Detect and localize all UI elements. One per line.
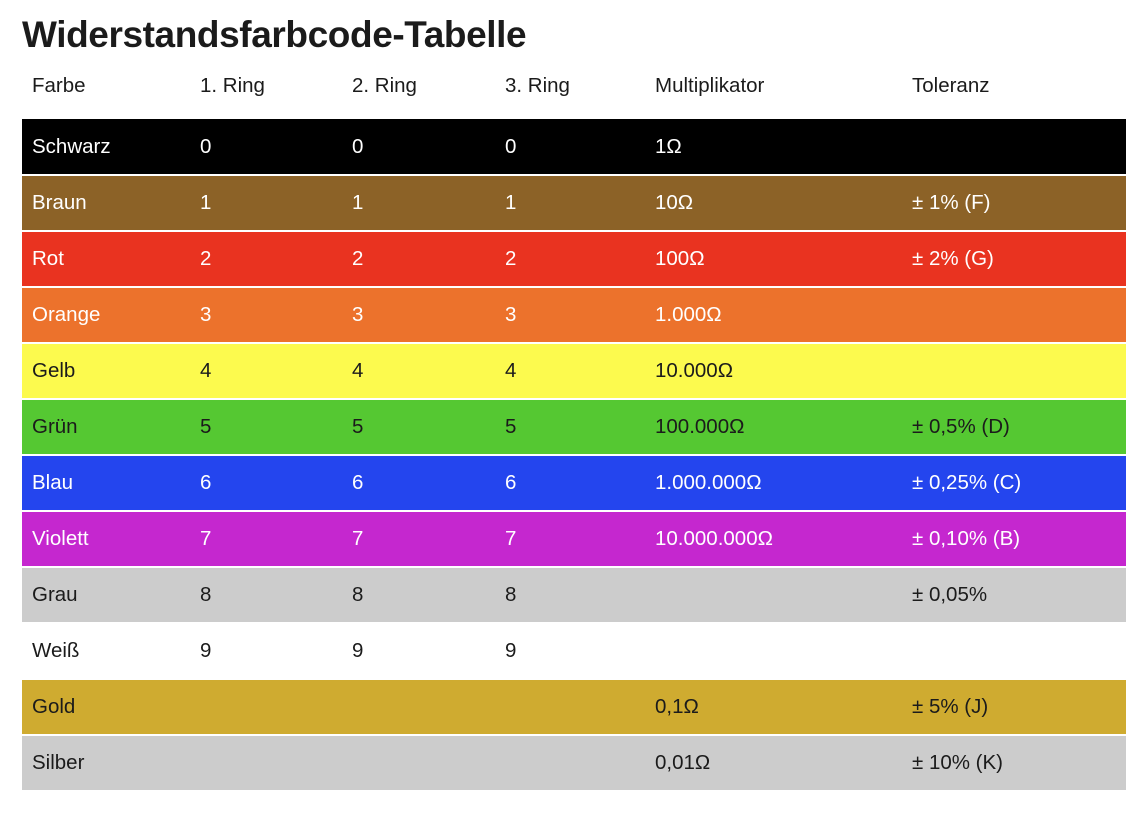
cell-farbe: Violett xyxy=(22,511,190,567)
cell-ring1 xyxy=(190,735,342,791)
cell-toleranz: ± 0,10% (B) xyxy=(902,511,1126,567)
cell-ring2: 4 xyxy=(342,343,495,399)
cell-ring1: 2 xyxy=(190,231,342,287)
table-header-row: Farbe1. Ring2. Ring3. RingMultiplikatorT… xyxy=(22,74,1126,119)
cell-ring2: 1 xyxy=(342,175,495,231)
table-body: Schwarz0001ΩBraun11110Ω± 1% (F)Rot222100… xyxy=(22,119,1126,791)
cell-ring1: 0 xyxy=(190,119,342,175)
cell-multiplikator: 10.000.000Ω xyxy=(645,511,902,567)
cell-toleranz xyxy=(902,623,1126,679)
column-header-multiplikator: Multiplikator xyxy=(645,74,902,119)
cell-ring1 xyxy=(190,679,342,735)
cell-ring2: 8 xyxy=(342,567,495,623)
table-row: Blau6661.000.000Ω± 0,25% (C) xyxy=(22,455,1126,511)
cell-toleranz: ± 0,05% xyxy=(902,567,1126,623)
cell-ring3: 1 xyxy=(495,175,645,231)
cell-farbe: Blau xyxy=(22,455,190,511)
cell-toleranz: ± 10% (K) xyxy=(902,735,1126,791)
table-row: Silber0,01Ω± 10% (K) xyxy=(22,735,1126,791)
column-header-ring1: 1. Ring xyxy=(190,74,342,119)
cell-toleranz xyxy=(902,119,1126,175)
resistor-color-code-page: Widerstandsfarbcode-Tabelle Farbe1. Ring… xyxy=(0,0,1148,820)
cell-toleranz xyxy=(902,287,1126,343)
cell-ring1: 3 xyxy=(190,287,342,343)
cell-ring3: 8 xyxy=(495,567,645,623)
cell-ring3: 6 xyxy=(495,455,645,511)
cell-farbe: Gold xyxy=(22,679,190,735)
table-row: Grau888± 0,05% xyxy=(22,567,1126,623)
cell-multiplikator: 1.000.000Ω xyxy=(645,455,902,511)
cell-ring2: 5 xyxy=(342,399,495,455)
cell-toleranz: ± 0,25% (C) xyxy=(902,455,1126,511)
cell-ring2: 0 xyxy=(342,119,495,175)
cell-ring1: 9 xyxy=(190,623,342,679)
cell-ring3: 5 xyxy=(495,399,645,455)
cell-ring2: 6 xyxy=(342,455,495,511)
cell-ring3: 0 xyxy=(495,119,645,175)
table-row: Gelb44410.000Ω xyxy=(22,343,1126,399)
cell-ring2: 9 xyxy=(342,623,495,679)
cell-ring3 xyxy=(495,679,645,735)
cell-ring1: 4 xyxy=(190,343,342,399)
cell-multiplikator: 0,1Ω xyxy=(645,679,902,735)
cell-farbe: Orange xyxy=(22,287,190,343)
table-header: Farbe1. Ring2. Ring3. RingMultiplikatorT… xyxy=(22,74,1126,119)
cell-toleranz: ± 1% (F) xyxy=(902,175,1126,231)
cell-toleranz: ± 5% (J) xyxy=(902,679,1126,735)
cell-farbe: Weiß xyxy=(22,623,190,679)
cell-multiplikator: 10Ω xyxy=(645,175,902,231)
table-row: Gold0,1Ω± 5% (J) xyxy=(22,679,1126,735)
table-row: Braun11110Ω± 1% (F) xyxy=(22,175,1126,231)
cell-toleranz: ± 0,5% (D) xyxy=(902,399,1126,455)
cell-ring3: 4 xyxy=(495,343,645,399)
cell-multiplikator: 1.000Ω xyxy=(645,287,902,343)
cell-multiplikator xyxy=(645,567,902,623)
column-header-ring2: 2. Ring xyxy=(342,74,495,119)
table-row: Orange3331.000Ω xyxy=(22,287,1126,343)
cell-farbe: Braun xyxy=(22,175,190,231)
table-row: Rot222100Ω± 2% (G) xyxy=(22,231,1126,287)
cell-ring3: 2 xyxy=(495,231,645,287)
table-row: Schwarz0001Ω xyxy=(22,119,1126,175)
cell-toleranz xyxy=(902,343,1126,399)
cell-farbe: Gelb xyxy=(22,343,190,399)
cell-multiplikator: 100.000Ω xyxy=(645,399,902,455)
column-header-toleranz: Toleranz xyxy=(902,74,1126,119)
cell-ring2: 3 xyxy=(342,287,495,343)
cell-farbe: Schwarz xyxy=(22,119,190,175)
cell-ring1: 6 xyxy=(190,455,342,511)
table-row: Violett77710.000.000Ω± 0,10% (B) xyxy=(22,511,1126,567)
cell-ring1: 5 xyxy=(190,399,342,455)
column-header-farbe: Farbe xyxy=(22,74,190,119)
cell-toleranz: ± 2% (G) xyxy=(902,231,1126,287)
cell-farbe: Grün xyxy=(22,399,190,455)
cell-ring3: 9 xyxy=(495,623,645,679)
cell-ring2 xyxy=(342,735,495,791)
cell-farbe: Grau xyxy=(22,567,190,623)
resistor-color-code-table: Farbe1. Ring2. Ring3. RingMultiplikatorT… xyxy=(22,74,1126,792)
cell-multiplikator xyxy=(645,623,902,679)
cell-multiplikator: 0,01Ω xyxy=(645,735,902,791)
cell-farbe: Rot xyxy=(22,231,190,287)
cell-multiplikator: 1Ω xyxy=(645,119,902,175)
cell-ring1: 7 xyxy=(190,511,342,567)
table-row: Weiß999 xyxy=(22,623,1126,679)
cell-ring1: 8 xyxy=(190,567,342,623)
cell-ring3: 7 xyxy=(495,511,645,567)
cell-ring2 xyxy=(342,679,495,735)
cell-farbe: Silber xyxy=(22,735,190,791)
column-header-ring3: 3. Ring xyxy=(495,74,645,119)
table-row: Grün555100.000Ω± 0,5% (D) xyxy=(22,399,1126,455)
cell-ring3 xyxy=(495,735,645,791)
cell-multiplikator: 100Ω xyxy=(645,231,902,287)
cell-multiplikator: 10.000Ω xyxy=(645,343,902,399)
cell-ring2: 2 xyxy=(342,231,495,287)
cell-ring1: 1 xyxy=(190,175,342,231)
cell-ring3: 3 xyxy=(495,287,645,343)
cell-ring2: 7 xyxy=(342,511,495,567)
page-title: Widerstandsfarbcode-Tabelle xyxy=(22,0,1126,60)
